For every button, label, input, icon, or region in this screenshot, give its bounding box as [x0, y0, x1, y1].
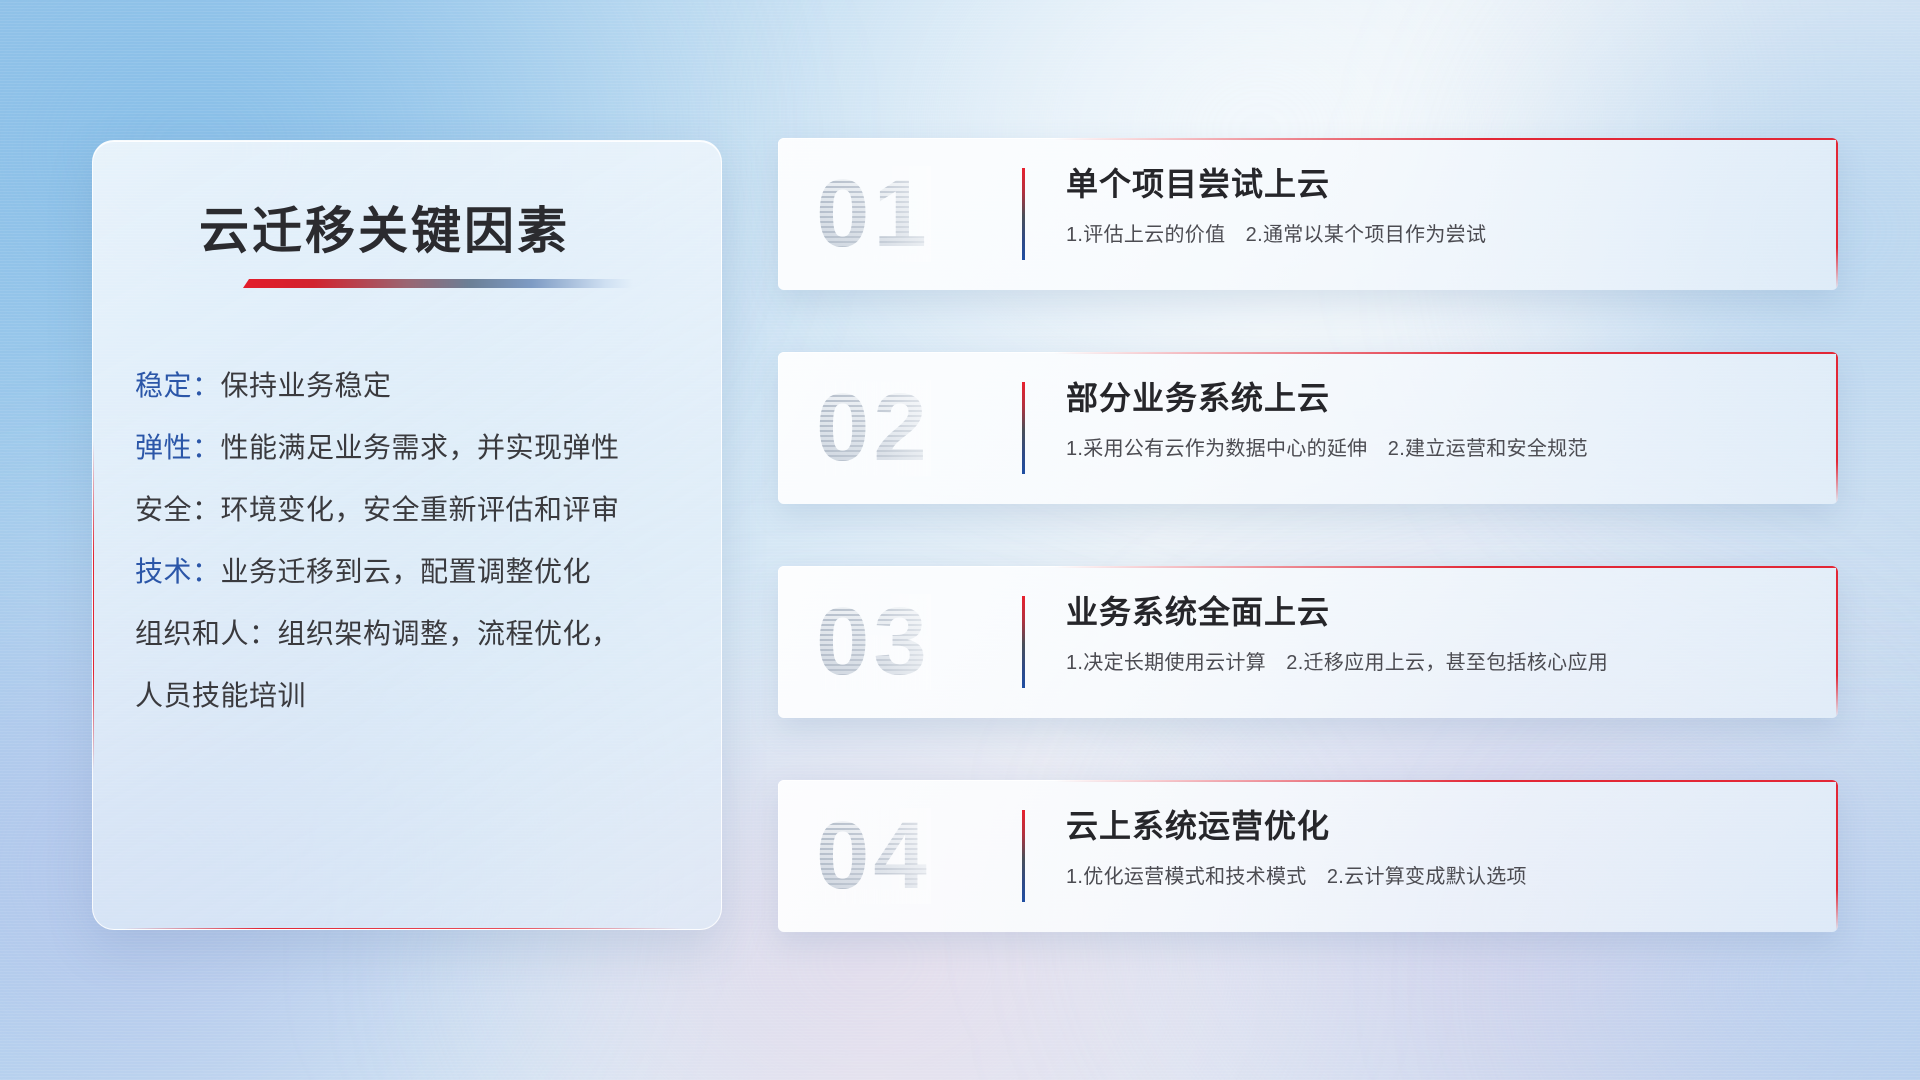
step-card-02[interactable]: 02 部分业务系统上云 1.采用公有云作为数据中心的延伸 2.建立运营和安全规范: [778, 352, 1838, 504]
migration-steps-list: 01 单个项目尝试上云 1.评估上云的价值 2.通常以某个项目作为尝试 02 部…: [778, 138, 1838, 994]
card-top-accent: [1054, 566, 1838, 568]
key-factor-item: 弹性：性能满足业务需求，并实现弹性: [135, 417, 685, 479]
step-content: 单个项目尝试上云 1.评估上云的价值 2.通常以某个项目作为尝试: [1066, 164, 1808, 247]
key-factor-item: 技术：业务迁移到云，配置调整优化: [135, 541, 685, 603]
card-right-accent: [1836, 780, 1838, 932]
step-title: 单个项目尝试上云: [1066, 164, 1808, 204]
step-number: 01: [816, 166, 931, 262]
step-description: 1.采用公有云作为数据中心的延伸 2.建立运营和安全规范: [1066, 432, 1808, 461]
step-number: 02: [816, 380, 931, 476]
key-factor-item: 组织和人：组织架构调整，流程优化，: [135, 603, 685, 665]
panel-bottom-accent-line: [123, 928, 683, 930]
step-number: 03: [816, 594, 931, 690]
step-content: 云上系统运营优化 1.优化运营模式和技术模式 2.云计算变成默认选项: [1066, 806, 1808, 889]
panel-title-underline: [243, 279, 633, 288]
key-factors-panel: 云迁移关键因素 稳定：保持业务稳定 弹性：性能满足业务需求，并实现弹性 安全：环…: [92, 140, 722, 930]
slide-stage: 云迁移关键因素 稳定：保持业务稳定 弹性：性能满足业务需求，并实现弹性 安全：环…: [0, 0, 1920, 1080]
card-left-highlight: [778, 138, 779, 290]
step-number: 04: [816, 808, 931, 904]
step-card-01[interactable]: 01 单个项目尝试上云 1.评估上云的价值 2.通常以某个项目作为尝试: [778, 138, 1838, 290]
card-top-accent: [1054, 138, 1838, 140]
key-factor-text: 环境变化，安全重新评估和评审: [221, 494, 620, 525]
step-title: 业务系统全面上云: [1066, 592, 1808, 632]
card-top-accent: [1054, 780, 1838, 782]
key-factor-text: 业务迁移到云，配置调整优化: [221, 556, 592, 587]
step-description: 1.决定长期使用云计算 2.迁移应用上云，甚至包括核心应用: [1066, 646, 1808, 675]
step-title: 部分业务系统上云: [1066, 378, 1808, 418]
key-factors-list: 稳定：保持业务稳定 弹性：性能满足业务需求，并实现弹性 安全：环境变化，安全重新…: [135, 355, 685, 727]
panel-title: 云迁移关键因素: [199, 191, 570, 263]
card-left-highlight: [778, 566, 779, 718]
step-content: 业务系统全面上云 1.决定长期使用云计算 2.迁移应用上云，甚至包括核心应用: [1066, 592, 1808, 675]
key-factor-text: 保持业务稳定: [221, 370, 392, 401]
panel-left-accent-line: [92, 441, 94, 771]
key-factor-label: 弹性：: [135, 432, 221, 463]
key-factor-label: 稳定：: [135, 370, 221, 401]
step-content: 部分业务系统上云 1.采用公有云作为数据中心的延伸 2.建立运营和安全规范: [1066, 378, 1808, 461]
key-factor-label: 安全：: [135, 494, 221, 525]
card-left-highlight: [778, 780, 779, 932]
step-divider: [1022, 382, 1025, 474]
card-right-accent: [1836, 566, 1838, 718]
step-divider: [1022, 810, 1025, 902]
card-right-accent: [1836, 138, 1838, 290]
card-left-highlight: [778, 352, 779, 504]
key-factor-text: 性能满足业务需求，并实现弹性: [221, 432, 620, 463]
step-description: 1.评估上云的价值 2.通常以某个项目作为尝试: [1066, 218, 1808, 247]
step-title: 云上系统运营优化: [1066, 806, 1808, 846]
key-factor-item: 稳定：保持业务稳定: [135, 355, 685, 417]
step-card-03[interactable]: 03 业务系统全面上云 1.决定长期使用云计算 2.迁移应用上云，甚至包括核心应…: [778, 566, 1838, 718]
step-divider: [1022, 596, 1025, 688]
card-top-accent: [1054, 352, 1838, 354]
key-factor-item: 安全：环境变化，安全重新评估和评审: [135, 479, 685, 541]
card-right-accent: [1836, 352, 1838, 504]
key-factor-item-continuation: 人员技能培训: [135, 665, 685, 727]
step-divider: [1022, 168, 1025, 260]
key-factor-label: 组织和人：: [135, 618, 278, 649]
key-factor-text: 人员技能培训: [135, 680, 306, 711]
step-card-04[interactable]: 04 云上系统运营优化 1.优化运营模式和技术模式 2.云计算变成默认选项: [778, 780, 1838, 932]
key-factor-label: 技术：: [135, 556, 221, 587]
step-description: 1.优化运营模式和技术模式 2.云计算变成默认选项: [1066, 860, 1808, 889]
key-factor-text: 组织架构调整，流程优化，: [278, 618, 620, 649]
